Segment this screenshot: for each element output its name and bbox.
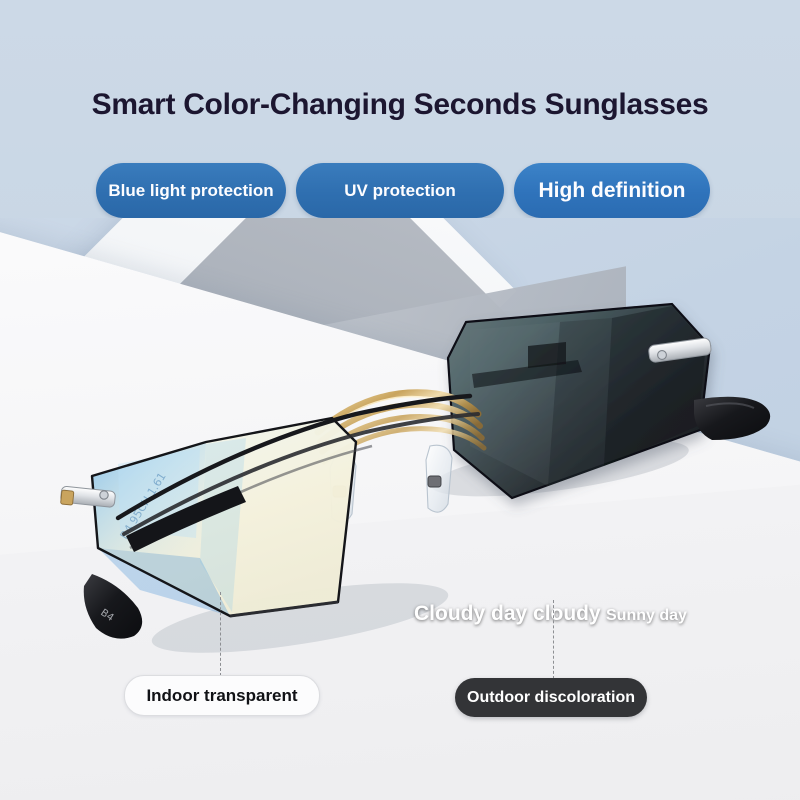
eyeglasses-product: B4 95CH 1.61 <box>0 218 800 800</box>
feature-pill-blue-light[interactable]: Blue light protection <box>96 163 286 218</box>
feature-pill-high-definition[interactable]: High definition <box>514 163 710 218</box>
temple-tip-right <box>694 397 770 440</box>
callout-outdoor-discoloration[interactable]: Outdoor discoloration <box>455 678 647 717</box>
product-banner: Smart Color-Changing Seconds Sunglasses … <box>0 0 800 800</box>
leader-line-outdoor <box>553 600 554 679</box>
callout-indoor-transparent[interactable]: Indoor transparent <box>124 675 320 716</box>
feature-pill-row: Blue light protection UV protection High… <box>0 163 800 219</box>
photo-label-sunny-day: Sunny day <box>606 607 687 625</box>
product-photo: B4 95CH 1.61 <box>0 218 800 800</box>
leader-line-indoor <box>220 592 221 676</box>
temple-tip-left: B4 <box>84 574 142 639</box>
lens-right-dark <box>448 304 710 498</box>
photo-label-cloudy-day: Cloudy day cloudy <box>414 602 601 626</box>
page-title: Smart Color-Changing Seconds Sunglasses <box>0 88 800 122</box>
feature-pill-uv[interactable]: UV protection <box>296 163 504 218</box>
